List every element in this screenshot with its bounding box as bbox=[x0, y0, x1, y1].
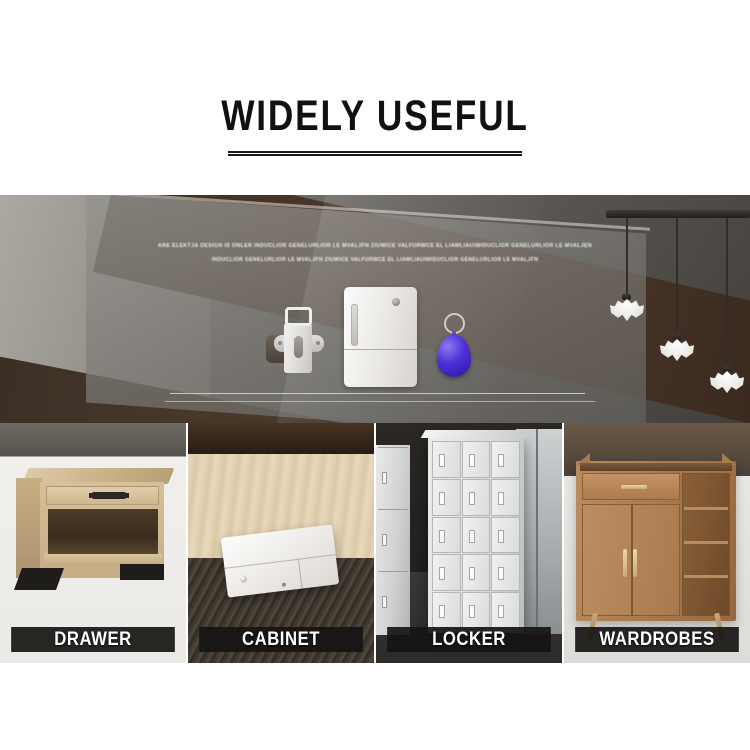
narrow-locker-unit bbox=[376, 445, 410, 635]
rfid-key-fob bbox=[434, 313, 474, 379]
locker-cell bbox=[432, 554, 461, 591]
lock-button bbox=[240, 575, 248, 583]
lamp-cord bbox=[626, 218, 628, 298]
locker-cell bbox=[491, 554, 520, 591]
fob-tag bbox=[437, 335, 471, 377]
wardrobe-drawer bbox=[582, 473, 680, 500]
hero-rule-lower bbox=[165, 401, 595, 402]
cabinet-backwall bbox=[188, 423, 374, 455]
locker-cell bbox=[462, 592, 491, 629]
lamp-shade bbox=[708, 371, 746, 395]
thumbnail-label-drawer: DRAWER bbox=[11, 627, 175, 652]
thumbnail-label-cabinet: CABINET bbox=[199, 627, 363, 652]
nightstand-illustration bbox=[16, 468, 168, 593]
lock-seam-vertical bbox=[298, 559, 303, 589]
wardrobe-drawer-handle bbox=[621, 485, 647, 489]
screw-hole-left bbox=[278, 341, 282, 345]
locker-handle bbox=[382, 596, 387, 608]
smart-lock-body bbox=[344, 287, 417, 387]
thumbnail-wardrobes[interactable]: WARDROBES bbox=[564, 423, 750, 663]
shelf-board bbox=[684, 541, 728, 544]
lamp-cap bbox=[672, 334, 681, 340]
lock-indicator-led bbox=[392, 298, 400, 306]
wide-locker-unit bbox=[428, 437, 524, 633]
hero-rule-upper bbox=[170, 393, 585, 394]
lamp-shade bbox=[658, 339, 696, 363]
locker-door bbox=[378, 509, 408, 569]
lock-seam bbox=[344, 349, 417, 350]
shelf-board bbox=[684, 575, 728, 578]
lock-screw bbox=[282, 582, 286, 586]
locker-handle bbox=[382, 534, 387, 546]
promo-page: WIDELY USEFUL ARE ELEKTJA DESIGN IS ONLE… bbox=[0, 0, 750, 750]
header: WIDELY USEFUL bbox=[0, 0, 750, 195]
locker-cell bbox=[432, 479, 461, 516]
locker-top-surface bbox=[421, 430, 532, 438]
screw-hole-right bbox=[316, 341, 320, 345]
locker-door-grid bbox=[432, 441, 520, 629]
lamp-cap bbox=[622, 294, 631, 300]
page-title: WIDELY USEFUL bbox=[68, 94, 683, 138]
window-mullion bbox=[536, 429, 538, 634]
lock-latch-bracket bbox=[285, 307, 312, 326]
locker-cell bbox=[462, 554, 491, 591]
locker-cell bbox=[462, 441, 491, 478]
locker-cell bbox=[462, 517, 491, 554]
locker-cell bbox=[491, 517, 520, 554]
locker-cell bbox=[491, 479, 520, 516]
lamp-shade bbox=[608, 299, 646, 323]
locker-cell bbox=[432, 517, 461, 554]
wardrobe-handle-left bbox=[623, 549, 627, 577]
lamp-cap bbox=[722, 366, 731, 372]
cabinet-lock-mechanism bbox=[266, 305, 326, 375]
pendant-lamp-group bbox=[600, 210, 750, 395]
lock-sensor-strip bbox=[351, 304, 358, 346]
lamp-cord bbox=[676, 218, 678, 338]
nightstand-side-panel bbox=[16, 478, 42, 578]
title-divider bbox=[228, 150, 522, 157]
wardrobe-illustration bbox=[576, 461, 736, 621]
locker-door bbox=[378, 447, 408, 507]
locker-handle bbox=[382, 472, 387, 484]
wardrobe-handle-right bbox=[633, 549, 637, 577]
lamp-cord bbox=[726, 218, 728, 370]
locker-door bbox=[378, 571, 408, 631]
lamp-ceiling-rail bbox=[606, 210, 750, 218]
wardrobe-doors bbox=[582, 504, 680, 616]
lock-slot bbox=[294, 336, 303, 358]
lock-seam bbox=[224, 554, 335, 569]
nightstand-base-left bbox=[14, 568, 64, 590]
locker-cell bbox=[491, 592, 520, 629]
shelf-board bbox=[684, 507, 728, 510]
thumbnail-cabinet[interactable]: CABINET bbox=[188, 423, 376, 663]
application-thumbnail-strip: DRAWER CABINET bbox=[0, 423, 750, 663]
locker-cell bbox=[491, 441, 520, 478]
locker-cell bbox=[462, 479, 491, 516]
drawer-handle bbox=[92, 492, 126, 499]
nightstand-open-shelf bbox=[48, 509, 158, 555]
thumbnail-label-wardrobes: WARDROBES bbox=[575, 627, 739, 652]
product-group bbox=[262, 285, 492, 390]
locker-cell bbox=[432, 592, 461, 629]
thumbnail-label-locker: LOCKER bbox=[387, 627, 551, 652]
wardrobe-top-rail bbox=[580, 463, 732, 471]
locker-cell bbox=[432, 441, 461, 478]
thumbnail-locker[interactable]: LOCKER bbox=[376, 423, 564, 663]
wardrobe-open-shelves bbox=[682, 473, 730, 616]
thumbnail-drawer[interactable]: DRAWER bbox=[0, 423, 188, 663]
nightstand-base-right bbox=[120, 564, 164, 580]
